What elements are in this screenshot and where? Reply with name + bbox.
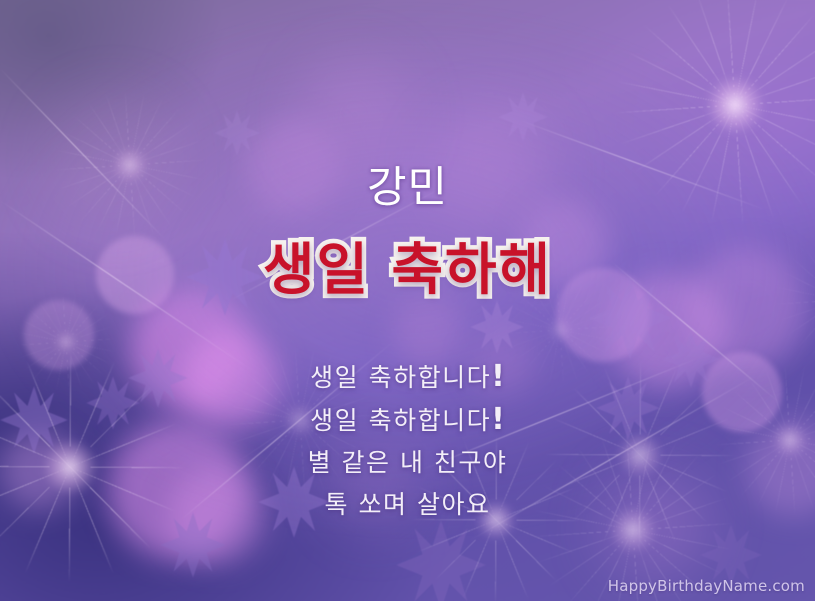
exclamation-mark: ! <box>491 402 505 437</box>
card-content: 강민 생일 축하해 생일 축하합니다!생일 축하합니다!별 같은 내 친구야톡 … <box>0 0 815 601</box>
message-block: 생일 축하합니다!생일 축하합니다!별 같은 내 친구야톡 쏘며 살아요 <box>0 356 815 526</box>
message-line-text: 별 같은 내 친구야 <box>308 448 508 477</box>
message-line: 톡 쏘며 살아요 <box>0 484 815 526</box>
message-line: 생일 축하합니다! <box>0 356 815 399</box>
message-line: 별 같은 내 친구야 <box>0 442 815 484</box>
watermark: HappyBirthdayName.com <box>608 577 805 595</box>
birthday-card: 강민 생일 축하해 생일 축하합니다!생일 축하합니다!별 같은 내 친구야톡 … <box>0 0 815 601</box>
recipient-name: 강민 <box>0 167 815 210</box>
message-line-text: 생일 축하합니다 <box>310 363 491 392</box>
exclamation-mark: ! <box>491 359 505 394</box>
greeting-title: 생일 축하해 <box>0 238 815 304</box>
message-line-text: 톡 쏘며 살아요 <box>325 490 491 519</box>
message-line-text: 생일 축하합니다 <box>310 406 491 435</box>
message-line: 생일 축하합니다! <box>0 399 815 442</box>
